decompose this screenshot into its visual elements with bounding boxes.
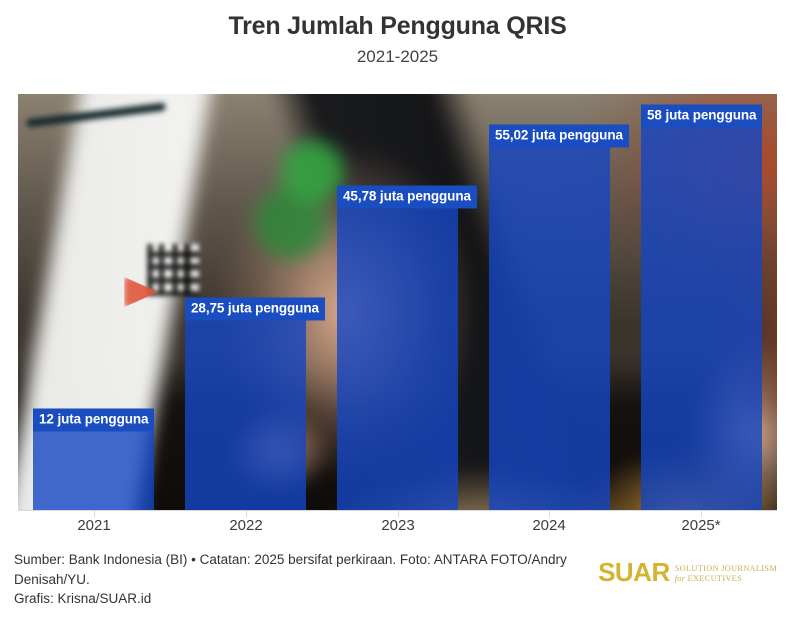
bar-2025-est: 58 juta pengguna [641,127,762,510]
chart-plot-area: 12 juta pengguna28,75 juta pengguna45,78… [18,94,777,510]
suar-logo: SUAR SOLUTION JOURNALISM for EXECUTIVES [598,559,777,585]
x-axis-label-2022: 2022 [229,517,262,534]
x-axis-label-2023: 2023 [381,517,414,534]
bar-value-label: 12 juta pengguna [33,408,154,431]
bar-value-label: 45,78 juta pengguna [337,185,477,208]
bar-2024: 55,02 juta pengguna [489,147,610,510]
bar-value-label: 58 juta pengguna [641,104,762,127]
x-axis-label-2021: 2021 [77,517,110,534]
bar-2022: 28,75 juta pengguna [185,320,306,510]
logo-tagline-line-2: for EXECUTIVES [675,574,777,583]
chart-header: Tren Jumlah Pengguna QRIS 2021-2025 [0,12,795,66]
x-axis-labels: 20212022202320242025* [18,517,777,541]
footer-source-line: Sumber: Bank Indonesia (BI) • Catatan: 2… [14,550,614,570]
logo-wordmark: SUAR [598,559,670,585]
bar-value-label: 55,02 juta pengguna [489,124,629,147]
infographic-root: Tren Jumlah Pengguna QRIS 2021-2025 12 j… [0,0,795,618]
chart-subtitle: 2021-2025 [0,47,795,67]
logo-tagline: SOLUTION JOURNALISM for EXECUTIVES [675,561,777,583]
logo-tagline-for: for [675,573,688,583]
bar-2021: 12 juta pengguna [33,431,154,510]
footer-notes: Sumber: Bank Indonesia (BI) • Catatan: 2… [14,550,614,609]
bar-value-label: 28,75 juta pengguna [185,297,325,320]
logo-tagline-executives: EXECUTIVES [688,573,742,583]
page-title: Tren Jumlah Pengguna QRIS [0,12,795,41]
background-photo-qr-code-detail [147,244,199,296]
footer-source-line-continued: Denisah/YU. [14,570,614,590]
x-axis-label-2025-est: 2025* [681,517,720,534]
x-axis-label-2024: 2024 [532,517,565,534]
bar-2023: 45,78 juta pengguna [337,208,458,510]
footer-credit-line: Grafis: Krisna/SUAR.id [14,589,614,609]
